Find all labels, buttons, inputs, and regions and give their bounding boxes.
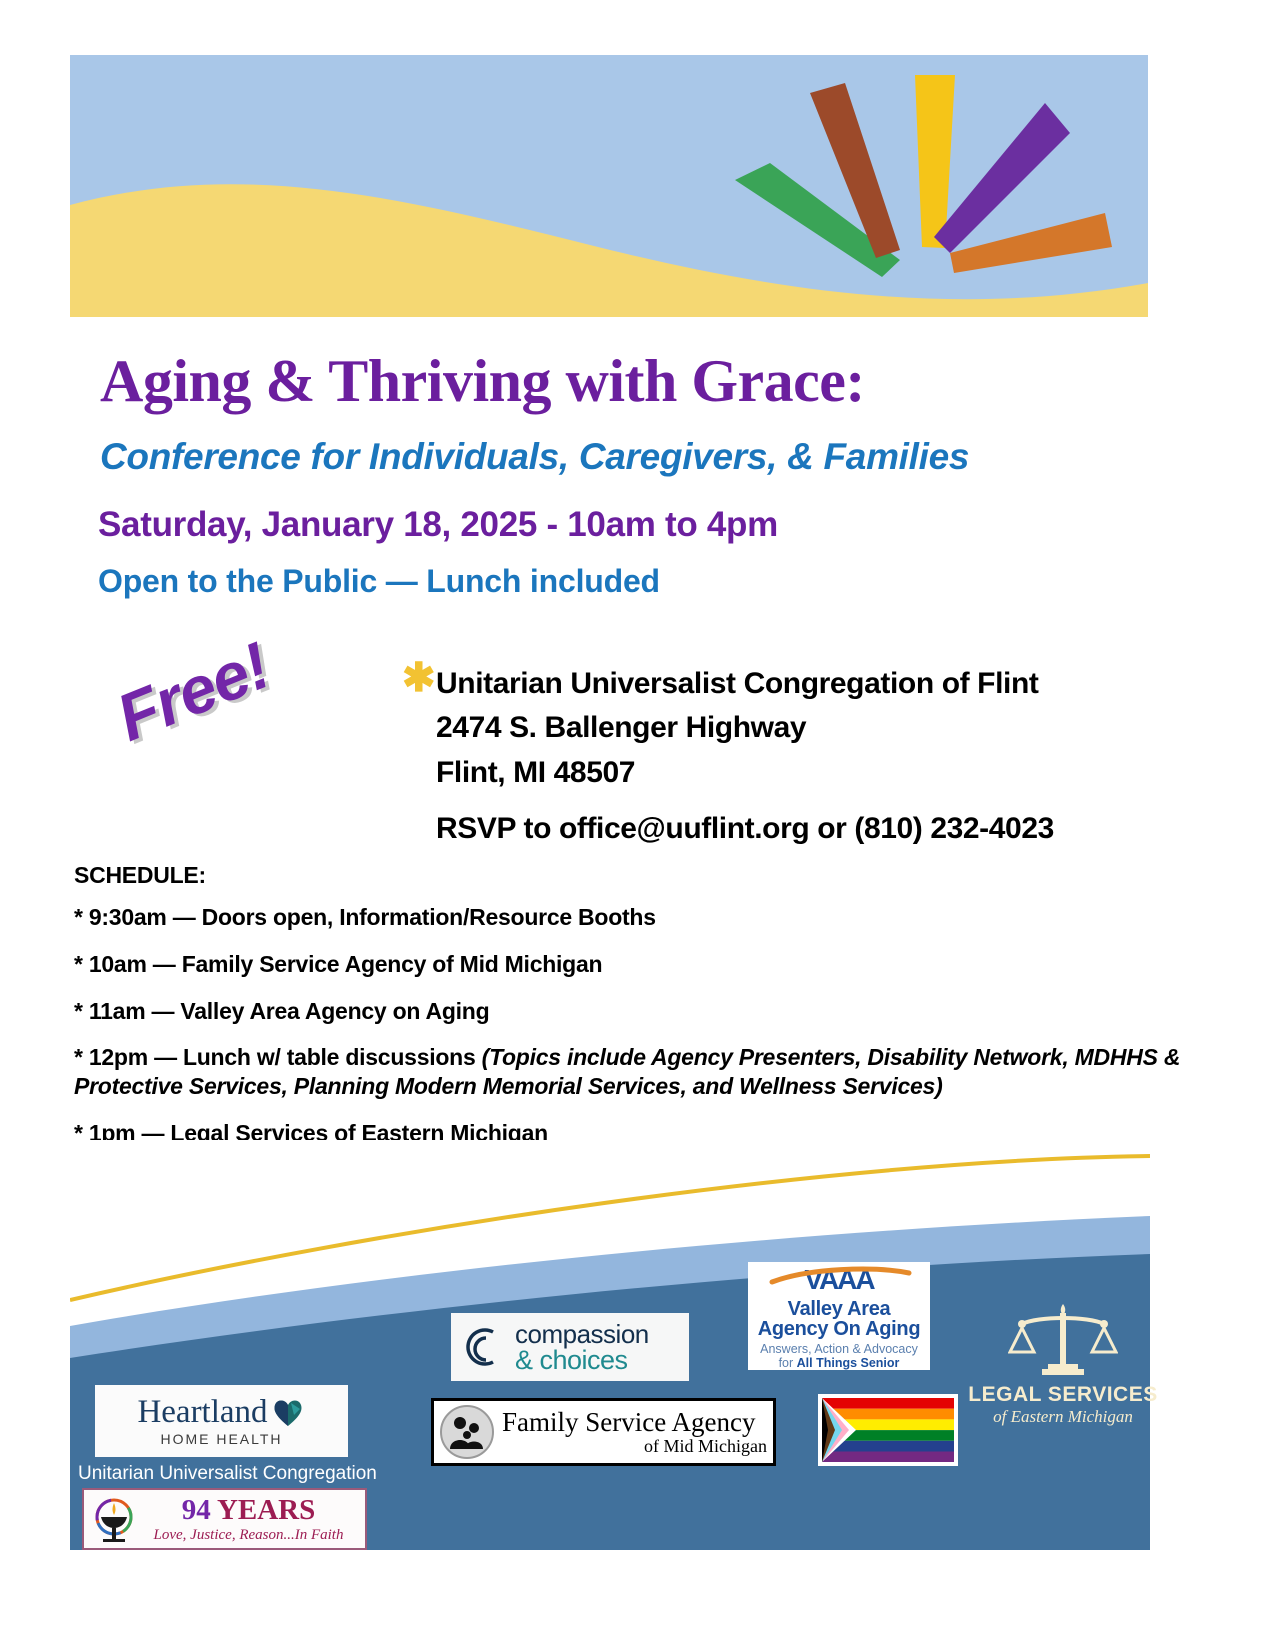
cc-circle-icon [461,1324,507,1370]
family-icon [440,1405,494,1459]
legal-line2: of Eastern Michigan [968,1407,1158,1427]
logo-compassion-and-choices: compassion & choices [451,1313,689,1381]
logo-legal-services: LEGAL SERVICES of Eastern Michigan [968,1300,1158,1432]
logo-family-service-agency: Family Service Agency of Mid Michigan [431,1398,776,1466]
fsa-line2: of Mid Michigan [502,1437,773,1456]
event-date: Saturday, January 18, 2025 - 10am to 4pm [98,505,1158,545]
legal-line1: LEGAL SERVICES [968,1383,1158,1407]
event-open-note: Open to the Public — Lunch included [98,563,1158,600]
venue-address: 2474 S. Ballenger Highway [402,706,1162,750]
asterisk-icon: ✱ [402,658,435,698]
vaaa-swoosh-icon: VAAA [754,1264,924,1294]
uu-years-word: YEARS [217,1494,315,1526]
vaaa-title-line2: Agency On Aging [748,1319,930,1339]
schedule-item-text: * 11am — Valley Area Agency on Aging [74,998,489,1024]
schedule-item: * 11am — Valley Area Agency on Aging [74,997,1194,1026]
vaaa-tagline1: Answers, Action & Advocacy [748,1342,930,1356]
logo-heartland-home-health: Heartland HOME HEALTH [95,1385,348,1457]
free-stamp: Free! [108,609,349,792]
fsa-line1: Family Service Agency [502,1408,773,1436]
venue-block: ✱ Unitarian Universalist Congregation of… [402,662,1162,795]
logo-valley-area-agency-on-aging: VAAA Valley Area Agency On Aging Answers… [748,1262,930,1370]
schedule-heading: SCHEDULE: [74,862,1194,889]
uu-congregation-caption: Unitarian Universalist Congregation [78,1463,378,1485]
logo-progress-pride-flag [818,1394,958,1466]
heartland-subtitle: HOME HEALTH [160,1431,282,1447]
logo-uu-94-years: 94 YEARS Love, Justice, Reason...In Fait… [82,1488,367,1550]
heart-icon [272,1397,306,1427]
schedule-item: * 9:30am — Doors open, Information/Resou… [74,903,1194,932]
compassion-line1: compassion [515,1321,649,1347]
free-stamp-label: Free! [108,609,332,751]
heartland-wordmark: Heartland [137,1396,267,1429]
venue-city-state-zip: Flint, MI 48507 [402,751,1162,795]
page-subtitle: Conference for Individuals, Caregivers, … [100,437,1160,478]
header-banner [70,55,1148,330]
schedule-item-text: * 10am — Family Service Agency of Mid Mi… [74,951,602,977]
vaaa-tagline2-bold: All Things Senior [797,1356,900,1370]
progress-pride-flag-icon [822,1398,954,1462]
uu-tagline: Love, Justice, Reason...In Faith [138,1528,359,1543]
chalice-icon [90,1495,138,1543]
schedule-item-text: * 9:30am — Doors open, Information/Resou… [74,904,656,930]
flyer-page: Aging & Thriving with Grace: Conference … [0,0,1275,1650]
page-title: Aging & Thriving with Grace: [100,350,1160,413]
venue-rsvp: RSVP to office@uuflint.org or (810) 232-… [402,812,1216,846]
vaaa-title-line1: Valley Area [748,1299,930,1319]
scales-of-justice-icon [1008,1300,1118,1378]
venue-name: Unitarian Universalist Congregation of F… [436,667,1038,700]
schedule-item: * 12pm — Lunch w/ table discussions (Top… [74,1043,1194,1101]
schedule-item-text: * 12pm — Lunch w/ table discussions [74,1044,482,1070]
schedule-item: * 10am — Family Service Agency of Mid Mi… [74,950,1194,979]
compassion-line2: & choices [515,1347,649,1374]
vaaa-tagline2-pre: for [779,1356,797,1370]
uu-years-number: 94 [182,1494,211,1526]
